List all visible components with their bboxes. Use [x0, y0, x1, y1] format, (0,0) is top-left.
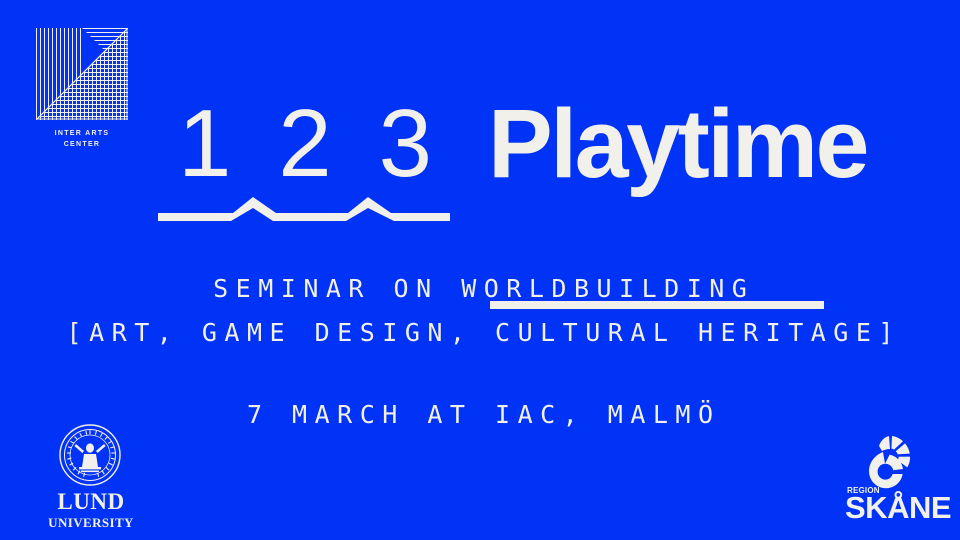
subtitle-line-1: SEMINAR ON WORLDBUILDING: [0, 272, 960, 306]
lund-university-seal-icon: [59, 424, 121, 486]
page-title: Playtime: [488, 88, 848, 200]
region-skane-griffin-icon: [859, 436, 921, 490]
number-2: 2: [278, 96, 331, 192]
headline-block: 1 2 3 Playtime: [0, 96, 960, 226]
number-1: 1: [178, 96, 231, 192]
region-skane-logo: REGION SKÅNE: [845, 436, 937, 520]
subtitle-block: SEMINAR ON WORLDBUILDING [ART, GAME DESI…: [0, 272, 960, 350]
lund-word-main: LUND: [36, 490, 146, 514]
title-wrap: Playtime: [488, 88, 848, 200]
skane-name: SKÅNE: [845, 492, 951, 524]
lund-word-sub: UNIVERSITY: [36, 515, 146, 530]
lund-university-wordmark: LUND UNIVERSITY: [36, 490, 146, 530]
numbers-group: 1 2 3: [160, 96, 450, 196]
number-3: 3: [379, 96, 432, 192]
subtitle-line-2: [ART, GAME DESIGN, CULTURAL HERITAGE]: [0, 316, 960, 350]
numbers-decorative-rule: [158, 191, 450, 227]
lund-university-logo: LUND UNIVERSITY: [36, 424, 146, 524]
